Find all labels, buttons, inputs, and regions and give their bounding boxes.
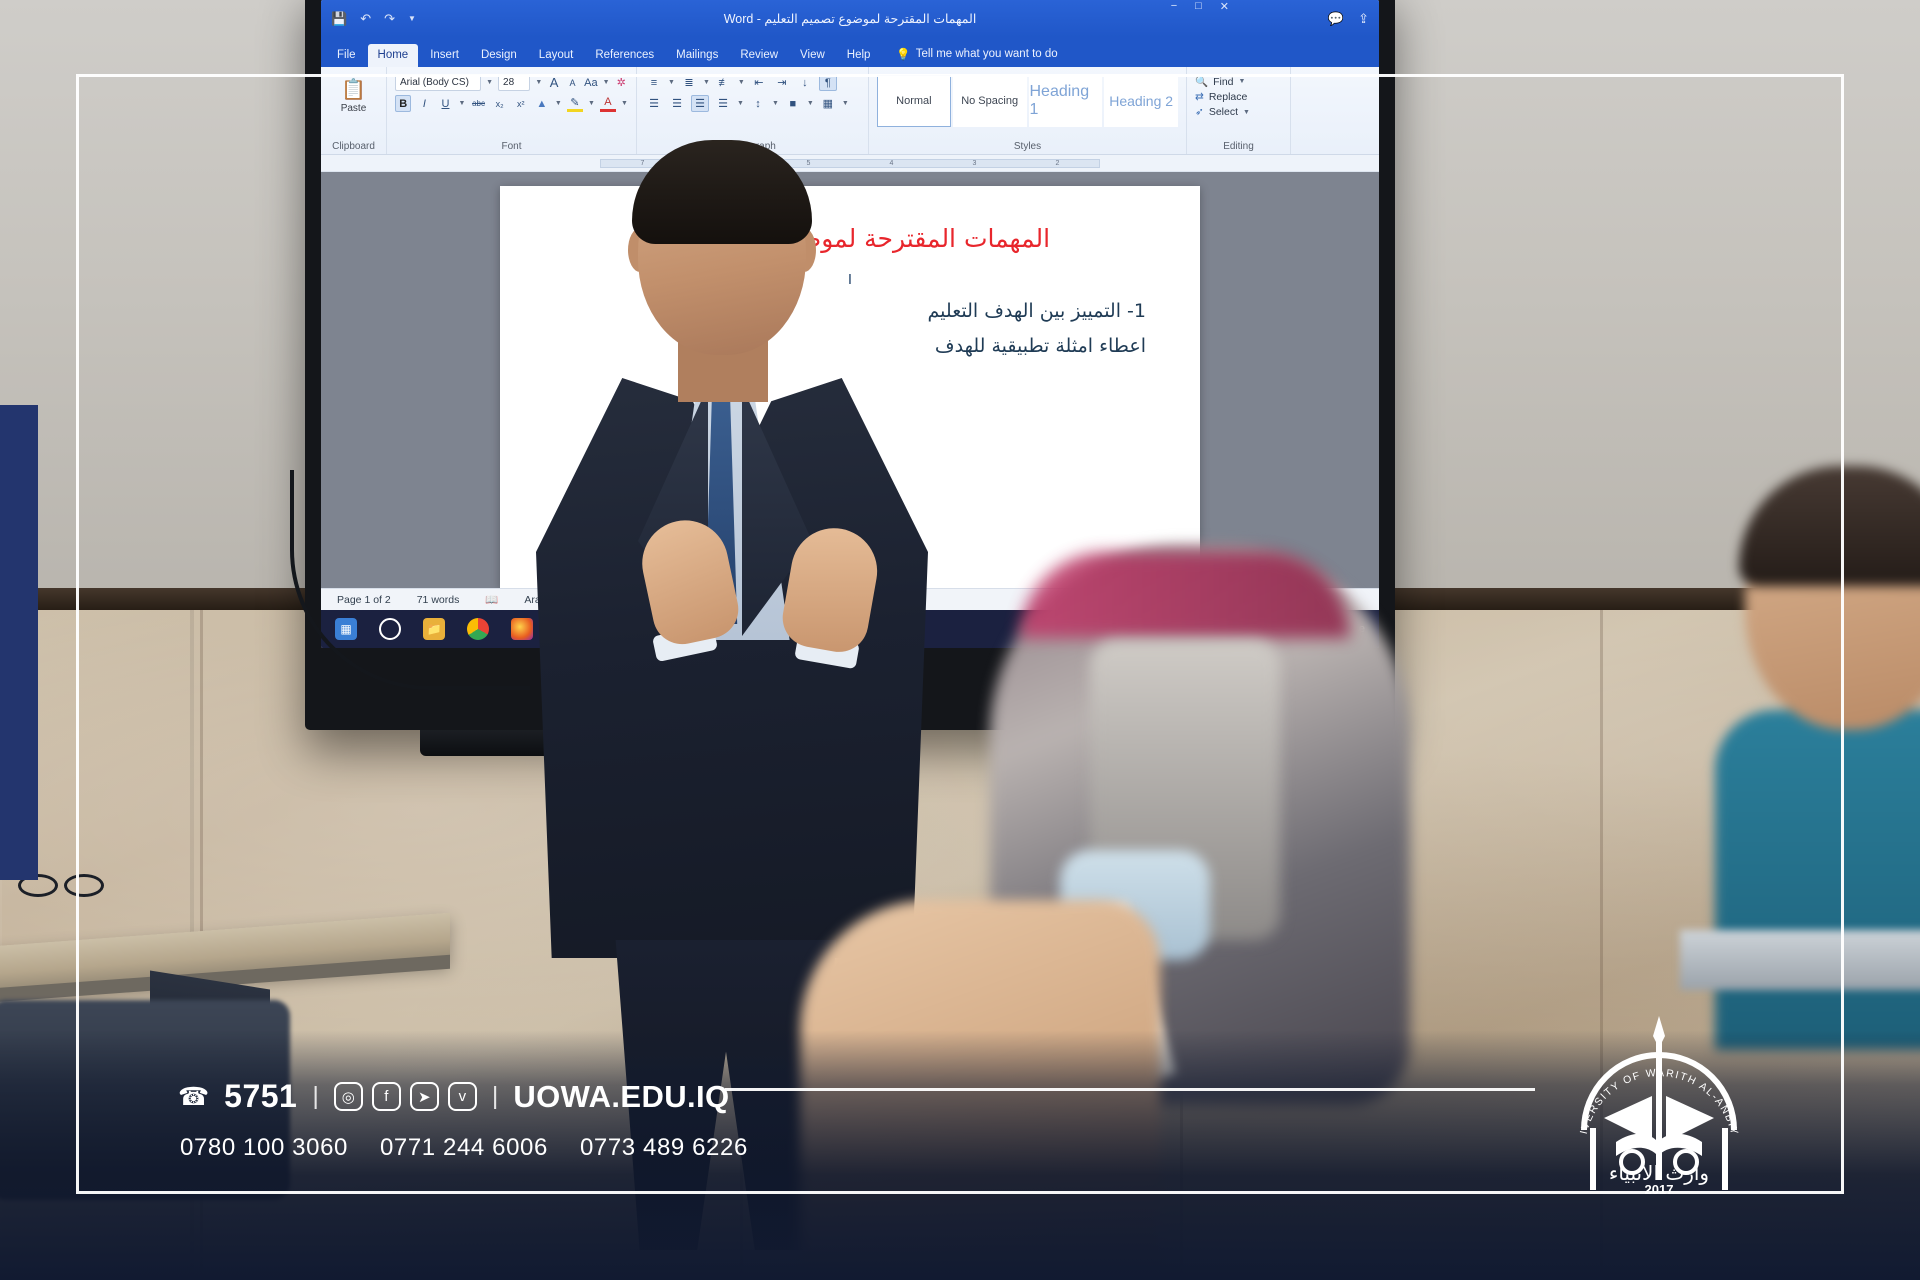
chevron-down-icon[interactable]: ▼ xyxy=(621,100,628,107)
editing-group-label: Editing xyxy=(1187,141,1290,152)
phone-icon: ☎ xyxy=(178,1082,209,1112)
social-icon-group[interactable]: ◎ f ➤ ᴠ xyxy=(334,1082,477,1111)
grow-font-icon[interactable]: A xyxy=(547,74,560,91)
style-normal[interactable]: Normal xyxy=(877,75,951,127)
decrease-indent-icon[interactable]: ⇤ xyxy=(750,74,768,91)
minimize-icon[interactable]: − xyxy=(1171,0,1177,13)
logo-arabic-name: وارث الانبياء xyxy=(1609,1161,1709,1185)
text-effects-icon[interactable]: ▲ xyxy=(534,95,550,112)
tab-home[interactable]: Home xyxy=(368,44,419,67)
find-button[interactable]: 🔍 Find ▼ xyxy=(1195,75,1282,88)
strikethrough-icon[interactable]: abc xyxy=(470,95,486,112)
restore-icon[interactable]: □ xyxy=(1195,0,1202,13)
window-controls[interactable]: − □ ✕ xyxy=(1171,0,1229,13)
chevron-down-icon[interactable]: ▼ xyxy=(703,79,710,86)
contact-row: ☎ 5751 | ◎ f ➤ ᴠ | UOWA.EDU.IQ xyxy=(178,1078,730,1115)
clipboard-group-label: Clipboard xyxy=(321,141,386,152)
phone-number-list: 0780 100 3060 0771 244 6006 0773 489 622… xyxy=(180,1134,748,1162)
audience-headscarf-band xyxy=(1020,552,1350,638)
chevron-down-icon[interactable]: ▼ xyxy=(738,79,745,86)
undo-icon[interactable]: ↶ xyxy=(360,11,371,27)
website-url[interactable]: UOWA.EDU.IQ xyxy=(513,1079,729,1115)
clear-formatting-icon[interactable]: ✲ xyxy=(615,74,628,91)
accent-bar-left xyxy=(0,405,38,880)
ribbon-group-clipboard[interactable]: 📋 Paste Clipboard xyxy=(321,67,387,154)
numbering-icon[interactable]: ≣ xyxy=(680,74,698,91)
tell-me-label: Tell me what you want to do xyxy=(916,48,1058,60)
audience-right-hair xyxy=(1739,466,1920,586)
bullets-icon[interactable]: ≡ xyxy=(645,74,663,91)
chevron-down-icon[interactable]: ▼ xyxy=(459,100,466,107)
style-heading-2[interactable]: Heading 2 xyxy=(1104,75,1178,127)
ribbon-group-styles[interactable]: Normal No Spacing Heading 1 Heading 2 St… xyxy=(869,67,1187,154)
search-icon: 🔍 xyxy=(1195,75,1208,88)
document-title: المهمات المقترحة لموضوع تصميم التعليم - … xyxy=(321,11,1379,26)
university-logo: UNIVERSITY OF WARITH AL-ANBIYAA 2017 وار… xyxy=(1564,1010,1754,1200)
screenshot-root: 💾 ↶ ↷ ▼ المهمات المقترحة لموضوع تصميم ال… xyxy=(0,0,1920,1280)
chevron-down-icon[interactable]: ▼ xyxy=(603,79,610,86)
align-right-icon[interactable]: ☰ xyxy=(691,95,709,112)
cursor-icon: ➶ xyxy=(1195,106,1204,118)
line-spacing-icon[interactable]: ↕ xyxy=(749,95,767,112)
audience-right-body xyxy=(1715,710,1920,1050)
phone-number[interactable]: 0773 489 6226 xyxy=(580,1134,748,1162)
customize-qat-icon[interactable]: ▼ xyxy=(408,14,416,23)
right-desk xyxy=(1680,930,1920,990)
font-color-icon[interactable]: A xyxy=(600,95,616,112)
tell-me-box[interactable]: 💡 Tell me what you want to do xyxy=(882,47,1065,67)
ribbon-tab-strip[interactable]: File Home Insert Design Layout Reference… xyxy=(321,37,1379,67)
chevron-down-icon[interactable]: ▼ xyxy=(772,100,779,107)
tab-references[interactable]: References xyxy=(585,44,664,67)
justify-icon[interactable]: ☰ xyxy=(714,95,732,112)
phone-number[interactable]: 0771 244 6006 xyxy=(380,1134,548,1162)
italic-icon[interactable]: I xyxy=(416,95,432,112)
telegram-icon[interactable]: ➤ xyxy=(410,1082,439,1111)
svg-text:UNIVERSITY OF WARITH AL-ANBIYA: UNIVERSITY OF WARITH AL-ANBIYAA xyxy=(1564,1010,1740,1136)
replace-icon: ⇄ xyxy=(1195,91,1204,103)
select-button[interactable]: ➶ Select ▼ xyxy=(1195,106,1282,118)
quick-access-toolbar[interactable]: 💾 ↶ ↷ ▼ xyxy=(331,11,416,27)
divider-line xyxy=(725,1088,1535,1091)
replace-button[interactable]: ⇄ Replace xyxy=(1195,91,1282,103)
tab-file[interactable]: File xyxy=(327,44,366,67)
sort-icon[interactable]: ↓ xyxy=(796,74,814,91)
chevron-down-icon[interactable]: ▼ xyxy=(737,100,744,107)
facebook-icon[interactable]: f xyxy=(372,1082,401,1111)
tab-layout[interactable]: Layout xyxy=(529,44,584,67)
shrink-font-icon[interactable]: A xyxy=(566,74,579,91)
ribbon-group-paragraph[interactable]: ≡▼ ≣▼ ≢▼ ⇤ ⇥ ↓ ¶ ☰ ☰ ☰ ☰ xyxy=(637,67,869,154)
tab-design[interactable]: Design xyxy=(471,44,527,67)
title-bar-right[interactable]: 💬 ⇪ xyxy=(1328,11,1369,27)
separator: | xyxy=(492,1082,499,1111)
font-size-input[interactable]: 28 xyxy=(498,74,530,91)
tab-insert[interactable]: Insert xyxy=(420,44,469,67)
chevron-down-icon[interactable]: ▼ xyxy=(807,100,814,107)
chevron-down-icon[interactable]: ▼ xyxy=(1243,109,1250,116)
superscript-icon[interactable]: x² xyxy=(513,95,529,112)
tab-review[interactable]: Review xyxy=(730,44,788,67)
close-icon[interactable]: ✕ xyxy=(1220,0,1229,13)
tab-mailings[interactable]: Mailings xyxy=(666,44,728,67)
separator: | xyxy=(312,1082,319,1111)
save-icon[interactable]: 💾 xyxy=(331,11,347,27)
chevron-down-icon[interactable]: ▼ xyxy=(842,100,849,107)
change-case-icon[interactable]: Aa xyxy=(584,74,597,91)
instagram-icon[interactable]: ◎ xyxy=(334,1082,363,1111)
subscript-icon[interactable]: x₂ xyxy=(492,95,508,112)
underline-icon[interactable]: U xyxy=(437,95,453,112)
redo-icon[interactable]: ↷ xyxy=(384,11,395,27)
style-heading-1[interactable]: Heading 1 xyxy=(1029,75,1103,127)
align-left-icon[interactable]: ☰ xyxy=(645,95,663,112)
paste-label[interactable]: Paste xyxy=(341,103,367,114)
paste-icon[interactable]: 📋 xyxy=(341,77,366,102)
phone-number[interactable]: 0780 100 3060 xyxy=(180,1134,348,1162)
comments-icon[interactable]: 💬 xyxy=(1328,11,1344,27)
show-formatting-marks-icon[interactable]: ¶ xyxy=(819,74,837,91)
chevron-down-icon[interactable]: ▼ xyxy=(1239,78,1246,85)
multilevel-list-icon[interactable]: ≢ xyxy=(715,74,733,91)
chevron-down-icon[interactable]: ▼ xyxy=(555,100,562,107)
ruler-mark: 3 xyxy=(973,160,977,167)
short-phone-number[interactable]: 5751 xyxy=(224,1078,297,1115)
ribbon-group-font[interactable]: Arial (Body CS) ▼ 28 ▼ A A Aa ▼ ✲ B xyxy=(387,67,637,154)
tab-view[interactable]: View xyxy=(790,44,835,67)
chevron-down-icon[interactable]: ▼ xyxy=(486,79,493,86)
chevron-down-icon[interactable]: ▼ xyxy=(668,79,675,86)
tab-help[interactable]: Help xyxy=(837,44,881,67)
style-no-spacing[interactable]: No Spacing xyxy=(953,75,1027,127)
font-name-input[interactable]: Arial (Body CS) xyxy=(395,74,481,91)
presenter-hair xyxy=(632,140,812,244)
shading-icon[interactable]: ■ xyxy=(784,95,802,112)
word-title-bar: 💾 ↶ ↷ ▼ المهمات المقترحة لموضوع تصميم ال… xyxy=(321,0,1379,37)
ribbon-body[interactable]: 📋 Paste Clipboard Arial (Body CS) ▼ 28 ▼… xyxy=(321,67,1379,155)
lightbulb-icon: 💡 xyxy=(896,47,910,61)
bold-icon[interactable]: B xyxy=(395,95,411,112)
ruler-mark: 2 xyxy=(1056,160,1060,167)
share-icon[interactable]: ⇪ xyxy=(1358,11,1369,27)
ribbon-group-editing[interactable]: 🔍 Find ▼ ⇄ Replace ➶ Select ▼ xyxy=(1187,67,1291,154)
logo-arc-text: UNIVERSITY OF WARITH AL-ANBIYAA xyxy=(1564,1010,1740,1136)
align-center-icon[interactable]: ☰ xyxy=(668,95,686,112)
text-highlight-icon[interactable]: ✎ xyxy=(567,95,583,112)
borders-icon[interactable]: ▦ xyxy=(819,95,837,112)
chevron-down-icon[interactable]: ▼ xyxy=(588,100,595,107)
chevron-down-icon[interactable]: ▼ xyxy=(535,79,542,86)
increase-indent-icon[interactable]: ⇥ xyxy=(773,74,791,91)
twitter-icon[interactable]: ᴠ xyxy=(448,1082,477,1111)
